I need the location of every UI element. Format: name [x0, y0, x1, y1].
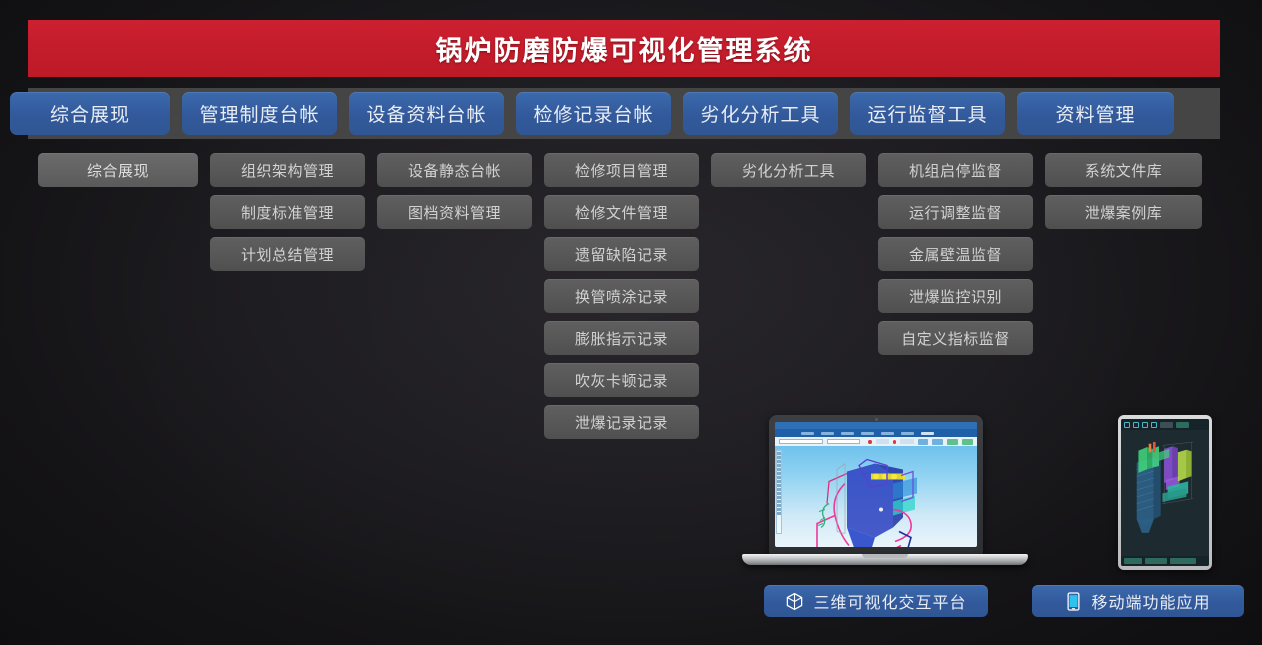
button-mobile-application[interactable]: 移动端功能应用	[1032, 585, 1244, 617]
tab-label: 设备资料台帐	[366, 100, 486, 127]
tablet-tool-icon	[1151, 422, 1157, 428]
tab-1[interactable]: 综合展现	[10, 92, 170, 135]
tablet-bottom-label	[1124, 558, 1142, 564]
menu-item[interactable]: 检修文件管理	[544, 195, 699, 229]
menu-item[interactable]: 遗留缺陷记录	[544, 237, 699, 271]
menu-item[interactable]: 泄爆记录记录	[544, 405, 699, 439]
menu-item[interactable]: 组织架构管理	[210, 153, 365, 187]
tab-label: 检修记录台帐	[533, 100, 653, 127]
button-mobile-application-label: 移动端功能应用	[1091, 589, 1210, 613]
tablet-tool-icon	[1133, 422, 1139, 428]
tab-label: 综合展现	[50, 100, 130, 127]
cube-3d-icon	[785, 592, 804, 611]
menu-item[interactable]: 系统文件库	[1045, 153, 1202, 187]
tablet-tool-icon	[1142, 422, 1148, 428]
menu-column-1: 综合展现	[38, 153, 198, 439]
menu-item-label: 制度标准管理	[241, 202, 334, 223]
tablet-toolbar	[1121, 419, 1209, 430]
menu-item[interactable]: 计划总结管理	[210, 237, 365, 271]
menu-item[interactable]: 膨胀指示记录	[544, 321, 699, 355]
menu-column-3: 设备静态台帐图档资料管理	[377, 153, 532, 439]
toolbar-button	[918, 439, 929, 445]
tablet-bottom-label	[1145, 558, 1167, 564]
button-3d-visualization-platform-label: 三维可视化交互平台	[813, 589, 966, 613]
menu-tab-active	[921, 432, 934, 435]
menu-tab	[801, 432, 814, 435]
tablet-mockup	[1118, 415, 1212, 570]
menu-item[interactable]: 换管喷涂记录	[544, 279, 699, 313]
menu-item[interactable]: 设备静态台帐	[377, 153, 532, 187]
menu-item[interactable]: 图档资料管理	[377, 195, 532, 229]
menu-item-label: 计划总结管理	[241, 244, 334, 265]
menu-item-label: 综合展现	[87, 160, 149, 181]
page-title: 锅炉防磨防爆可视化管理系统	[436, 29, 813, 68]
tab-bar: 综合展现管理制度台帐设备资料台帐检修记录台帐劣化分析工具运行监督工具资料管理	[10, 92, 1202, 135]
menu-item-label: 组织架构管理	[241, 160, 334, 181]
tablet-bottombar	[1121, 556, 1209, 566]
tab-4[interactable]: 检修记录台帐	[516, 92, 671, 135]
menu-item-label: 检修文件管理	[575, 202, 668, 223]
menu-item[interactable]: 泄爆案例库	[1045, 195, 1202, 229]
menu-item[interactable]: 机组启停监督	[878, 153, 1033, 187]
laptop-trackpad-notch	[862, 554, 908, 558]
menu-item[interactable]: 综合展现	[38, 153, 198, 187]
tab-label: 管理制度台帐	[199, 100, 319, 127]
tab-3[interactable]: 设备资料台帐	[349, 92, 504, 135]
toolbar-field	[779, 439, 823, 444]
menu-tab	[841, 432, 854, 435]
menu-item-label: 系统文件库	[1085, 160, 1163, 181]
menu-item[interactable]: 劣化分析工具	[711, 153, 866, 187]
menu-item[interactable]: 金属壁温监督	[878, 237, 1033, 271]
menu-item-label: 运行调整监督	[909, 202, 1002, 223]
tablet-tool-icon	[1124, 422, 1130, 428]
menu-item[interactable]: 检修项目管理	[544, 153, 699, 187]
toolbar-field	[827, 439, 861, 444]
menu-item-label: 检修项目管理	[575, 160, 668, 181]
tab-5[interactable]: 劣化分析工具	[683, 92, 838, 135]
menu-column-4: 检修项目管理检修文件管理遗留缺陷记录换管喷涂记录膨胀指示记录吹灰卡顿记录泄爆记录…	[544, 153, 699, 439]
tab-2[interactable]: 管理制度台帐	[182, 92, 337, 135]
menu-item-label: 金属壁温监督	[909, 244, 1002, 265]
menu-column-6: 机组启停监督运行调整监督金属壁温监督泄爆监控识别自定义指标监督	[878, 153, 1033, 439]
menu-item[interactable]: 制度标准管理	[210, 195, 365, 229]
menu-columns: 综合展现组织架构管理制度标准管理计划总结管理设备静态台帐图档资料管理检修项目管理…	[38, 153, 1228, 439]
menu-item-label: 劣化分析工具	[742, 160, 835, 181]
tab-label: 运行监督工具	[867, 100, 987, 127]
menu-item-label: 泄爆记录记录	[575, 412, 668, 433]
toolbar-button	[932, 439, 943, 445]
menu-item-label: 泄爆监控识别	[909, 286, 1002, 307]
tablet-bottom-label	[1170, 558, 1196, 564]
menu-tab	[861, 432, 874, 435]
menu-tab	[901, 432, 914, 435]
tab-6[interactable]: 运行监督工具	[850, 92, 1005, 135]
menu-item-label: 遗留缺陷记录	[575, 244, 668, 265]
menu-item-label: 自定义指标监督	[901, 328, 1010, 349]
menu-item[interactable]: 吹灰卡顿记录	[544, 363, 699, 397]
menu-item-label: 机组启停监督	[909, 160, 1002, 181]
toolbar-button	[947, 439, 958, 445]
menu-column-5: 劣化分析工具	[711, 153, 866, 439]
menu-column-2: 组织架构管理制度标准管理计划总结管理	[210, 153, 365, 439]
menu-item-label: 设备静态台帐	[408, 160, 501, 181]
menu-item-label: 膨胀指示记录	[575, 328, 668, 349]
toolbar-button	[962, 439, 973, 445]
menu-tab	[881, 432, 894, 435]
menu-item[interactable]: 自定义指标监督	[878, 321, 1033, 355]
menu-item-label: 泄爆案例库	[1085, 202, 1163, 223]
laptop-app-menubar	[775, 429, 977, 437]
menu-item[interactable]: 泄爆监控识别	[878, 279, 1033, 313]
menu-tab	[821, 432, 834, 435]
laptop-app-titlebar	[775, 422, 977, 429]
tablet-frame	[1118, 415, 1212, 570]
tablet-screen	[1121, 419, 1209, 566]
tab-label: 劣化分析工具	[700, 100, 820, 127]
menu-item[interactable]: 运行调整监督	[878, 195, 1033, 229]
legend-label	[900, 439, 913, 444]
menu-column-7: 系统文件库泄爆案例库	[1045, 153, 1202, 439]
tablet-tool-label	[1160, 422, 1173, 428]
tablet-boiler-3d-model	[1121, 430, 1209, 550]
legend-dot-red	[868, 440, 871, 444]
tablet-tool-label	[1176, 422, 1189, 428]
menu-item-label: 吹灰卡顿记录	[575, 370, 668, 391]
menu-item-label: 换管喷涂记录	[575, 286, 668, 307]
page-title-banner: 锅炉防磨防爆可视化管理系统	[28, 20, 1220, 77]
legend-label	[876, 439, 889, 444]
menu-item-label: 图档资料管理	[408, 202, 501, 223]
laptop-camera-icon	[875, 418, 878, 421]
button-3d-visualization-platform[interactable]: 三维可视化交互平台	[764, 585, 988, 617]
legend-dot-red	[893, 440, 896, 444]
tab-7[interactable]: 资料管理	[1017, 92, 1174, 135]
tab-label: 资料管理	[1055, 100, 1135, 127]
laptop-screen	[775, 422, 977, 547]
laptop-app-toolbar	[775, 437, 977, 446]
laptop-mockup	[742, 415, 1028, 575]
laptop-boiler-3d-model	[775, 446, 977, 547]
laptop-lid	[769, 415, 983, 555]
mobile-phone-icon	[1065, 592, 1082, 611]
